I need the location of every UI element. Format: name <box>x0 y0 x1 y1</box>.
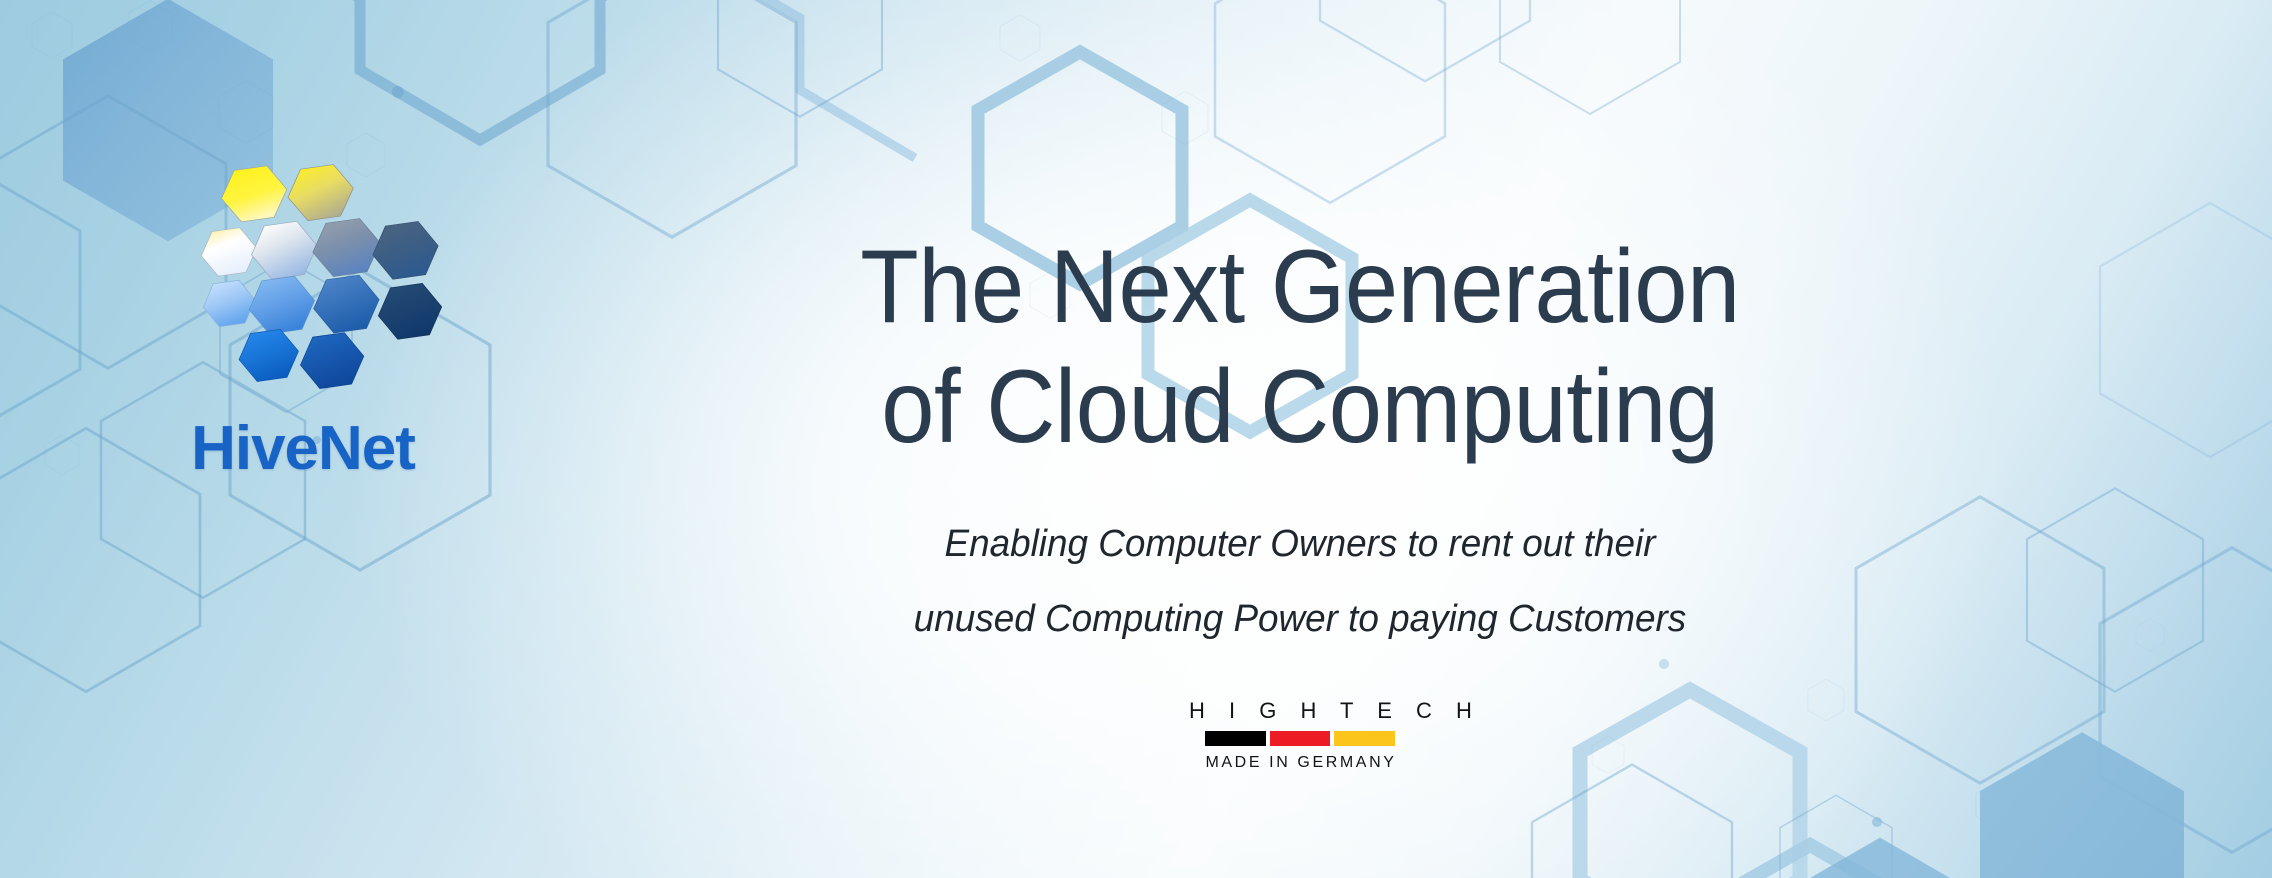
logo-hex-yellow-bright <box>218 164 291 225</box>
hero-text-column: The Next Generation of Cloud Computing E… <box>760 0 1840 878</box>
logo-hex-slate-grey <box>309 216 384 279</box>
hero-banner: HiveNet The Next Generation of Cloud Com… <box>0 0 2272 878</box>
headline-line-2: of Cloud Computing <box>803 348 1797 468</box>
subtitle-line-1: Enabling Computer Owners to rent out the… <box>776 520 1824 569</box>
logo-hex-steel-navy <box>369 219 442 281</box>
flag-stripe-red <box>1270 731 1331 746</box>
logo-hex-royal-blue <box>297 330 368 390</box>
logo-hex-bright-blue <box>236 327 302 383</box>
logo-hex-yellow-muted <box>284 162 357 223</box>
badge-made-in-germany-label: MADE IN GERMANY <box>1182 755 1420 771</box>
headline-line-1: The Next Generation <box>803 228 1797 348</box>
flag-stripe-gold <box>1334 731 1395 746</box>
logo-hex-cream-white <box>198 226 260 278</box>
page-subtitle: Enabling Computer Owners to rent out the… <box>760 520 1840 671</box>
logo-wordmark: HiveNet <box>138 418 468 480</box>
subtitle-line-2: unused Computing Power to paying Custome… <box>776 595 1824 644</box>
logo-hexagon-cluster <box>138 150 468 430</box>
flag-stripe-black <box>1205 731 1266 746</box>
page-title: The Next Generation of Cloud Computing <box>760 228 1840 467</box>
badge-high-tech-label: H I G H T E C H <box>1189 700 1420 722</box>
logo-hex-sky-blue <box>245 274 318 336</box>
hivenet-logo[interactable]: HiveNet <box>138 150 468 510</box>
logo-hex-silver-white <box>248 219 321 281</box>
german-flag-icon <box>1205 731 1395 746</box>
high-tech-made-in-germany-badge: H I G H T E C H MADE IN GERMANY <box>1180 700 1420 771</box>
logo-hex-medium-blue <box>310 273 383 335</box>
logo-hex-dark-navy <box>375 281 446 341</box>
logo-hex-pale-blue <box>200 278 258 328</box>
